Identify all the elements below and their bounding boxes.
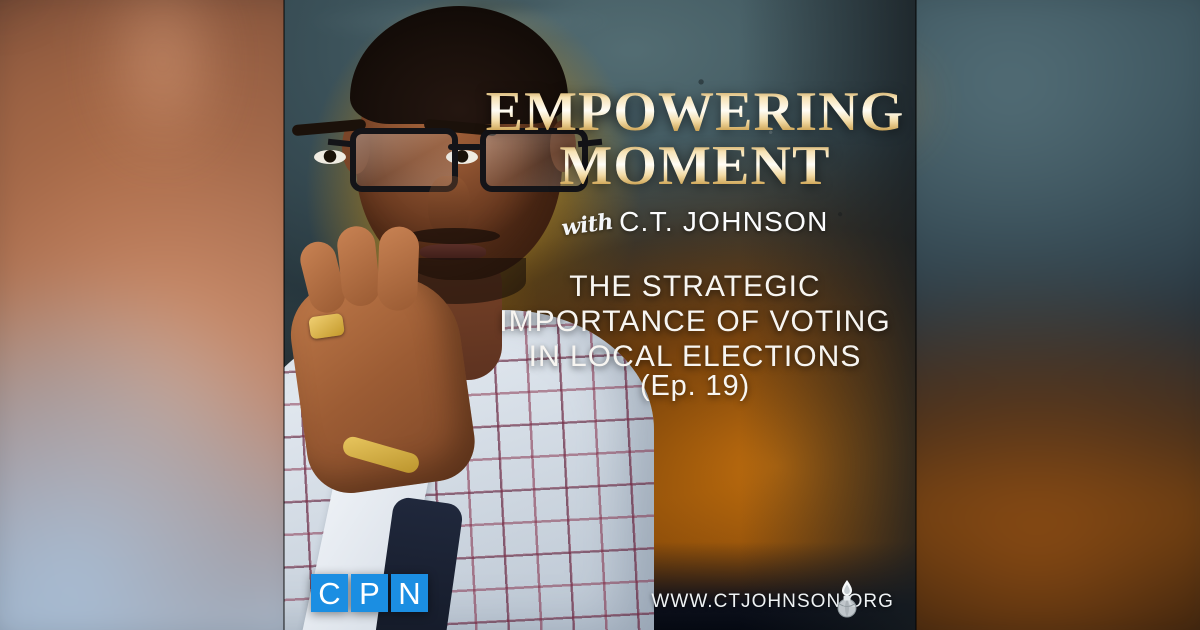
gold-ring	[308, 313, 345, 340]
episode-title: THE STRATEGIC IMPORTANCE OF VOTING IN LO…	[470, 270, 916, 374]
podcast-cover-screenshot: EMPOWERING MOMENT with C.T. JOHNSON THE …	[0, 0, 1200, 630]
show-title-line-2: MOMENT	[474, 140, 916, 193]
cover-right-seam	[915, 0, 917, 630]
blurred-backdrop-left	[0, 0, 290, 630]
eye-left	[314, 150, 346, 164]
finger	[377, 226, 420, 311]
cpn-tile-p: P	[351, 574, 388, 612]
cpn-tile-n: N	[391, 574, 428, 612]
cover-text-block: EMPOWERING MOMENT with C.T. JOHNSON THE …	[474, 0, 916, 630]
cpn-network-logo[interactable]: C P N	[311, 574, 428, 612]
episode-title-line: THE STRATEGIC	[470, 270, 916, 305]
cover-left-seam	[283, 0, 285, 630]
blurred-backdrop-right	[910, 0, 1200, 630]
lamp-flame-globe-icon	[834, 578, 860, 618]
cpn-tile-c: C	[311, 574, 348, 612]
show-title-line-1: EMPOWERING	[474, 86, 916, 139]
host-name: C.T. JOHNSON	[619, 206, 829, 238]
episode-number: (Ep. 19)	[470, 370, 916, 403]
byline-with-word: with	[560, 208, 615, 241]
eyeglass-temple-left	[328, 139, 352, 147]
gold-bracelet	[341, 434, 421, 475]
backdrop-left-highlights	[0, 0, 290, 630]
host-byline: with C.T. JOHNSON	[474, 206, 916, 238]
backdrop-right-highlights	[910, 0, 1200, 630]
episode-title-line: IMPORTANCE OF VOTING	[470, 305, 916, 340]
podcast-cover-art: EMPOWERING MOMENT with C.T. JOHNSON THE …	[284, 0, 916, 630]
